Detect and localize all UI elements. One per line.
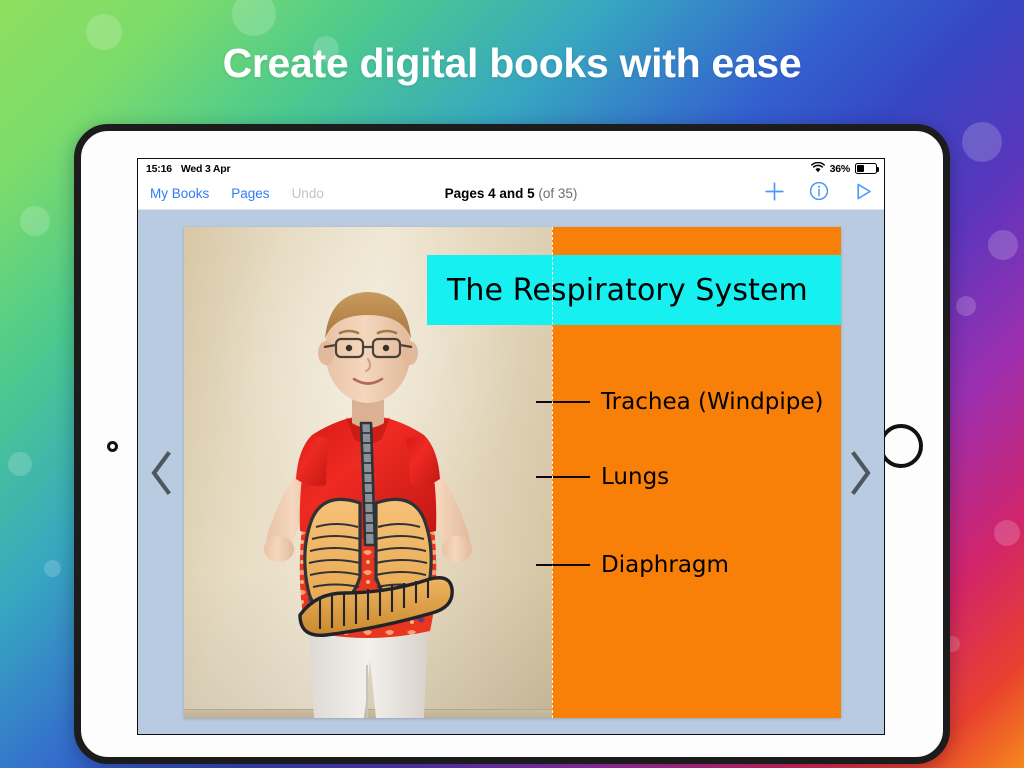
battery-icon — [855, 163, 877, 174]
promo-stage: Create digital books with ease 15:16 Wed… — [0, 0, 1024, 768]
status-time: 15:16 — [146, 163, 172, 175]
wifi-icon — [811, 162, 825, 176]
chevron-left-icon[interactable] — [138, 210, 184, 735]
page-indicator-main-text: Pages 4 and 5 — [445, 186, 535, 201]
title-text: The Respiratory System — [427, 273, 808, 308]
page-spread[interactable]: The Respiratory System Trachea (Windpipe… — [184, 227, 841, 718]
play-icon[interactable] — [853, 181, 874, 207]
page-indicator-sub: (of 35) — [538, 186, 577, 201]
book-canvas: The Respiratory System Trachea (Windpipe… — [138, 210, 884, 735]
home-button-icon[interactable] — [879, 424, 923, 468]
ipad-screen: 15:16 Wed 3 Apr 36% — [137, 158, 885, 735]
app-toolbar: My Books Pages Undo Pages 4 and 5 (of 35… — [138, 178, 884, 210]
status-date: Wed 3 Apr — [181, 163, 231, 175]
title-textbox[interactable]: The Respiratory System — [427, 255, 841, 325]
leader-line — [536, 564, 590, 566]
decorative-bubble — [962, 122, 1002, 162]
toolbar-actions — [764, 181, 874, 207]
label-callout-lungs[interactable]: Lungs — [536, 464, 669, 490]
decorative-bubble — [956, 296, 976, 316]
decorative-bubble — [20, 206, 50, 236]
decorative-bubble — [44, 560, 61, 577]
info-icon[interactable] — [809, 181, 829, 206]
undo-button: Undo — [292, 186, 324, 201]
decorative-bubble — [8, 452, 32, 476]
status-bar-right: 36% — [811, 162, 877, 176]
status-bar: 15:16 Wed 3 Apr 36% — [138, 159, 884, 178]
label-text: Diaphragm — [601, 552, 729, 578]
plus-icon[interactable] — [764, 181, 785, 207]
ipad-device: 15:16 Wed 3 Apr 36% — [74, 124, 950, 764]
page-indicator-main: Pages 4 and 5 — [445, 186, 535, 201]
leader-line — [536, 401, 590, 403]
decorative-bubble — [232, 0, 276, 36]
pages-button[interactable]: Pages — [231, 186, 269, 201]
battery-percent: 36% — [830, 163, 850, 175]
page-title: Create digital books with ease — [0, 40, 1024, 87]
label-callout-diaphragm[interactable]: Diaphragm — [536, 552, 729, 578]
chevron-right-icon[interactable] — [838, 210, 884, 735]
my-books-button[interactable]: My Books — [150, 186, 209, 201]
decorative-bubble — [988, 230, 1018, 260]
battery-fill — [857, 165, 864, 172]
leader-line — [536, 476, 590, 478]
camera-dot-icon — [107, 441, 118, 452]
decorative-bubble — [994, 520, 1020, 546]
label-text: Lungs — [601, 464, 669, 490]
label-callout-trachea[interactable]: Trachea (Windpipe) — [536, 389, 824, 415]
label-text: Trachea (Windpipe) — [601, 389, 824, 415]
